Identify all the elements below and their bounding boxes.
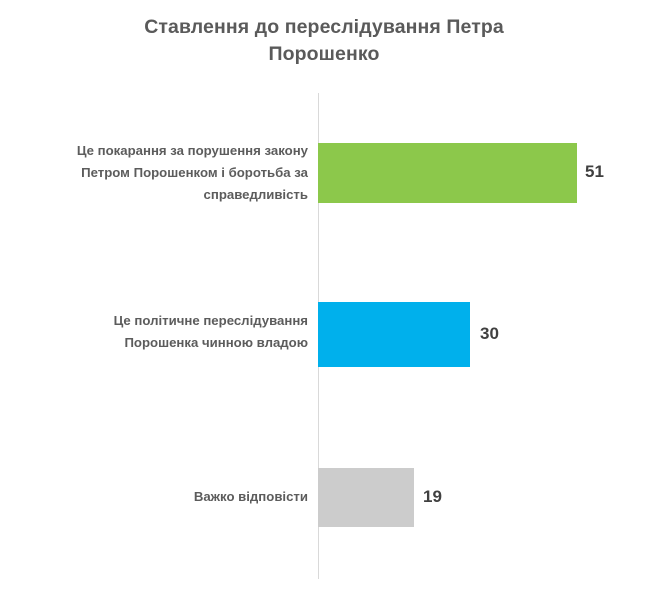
category-label-line: Петром Порошенком і боротьба за xyxy=(81,165,308,180)
bar-value-label: 19 xyxy=(423,487,442,507)
bar-row: Це політичне переслідування Порошенка чи… xyxy=(0,302,648,367)
plot-area: Це покарання за порушення закону Петром … xyxy=(0,0,648,602)
category-label: Важко відповісти xyxy=(8,486,308,508)
category-label-line: справедливість xyxy=(204,187,308,202)
bar-chart: Ставлення до переслідування Петра Пороше… xyxy=(0,0,648,602)
category-label-line: Порошенка чинною владою xyxy=(124,335,308,350)
bar-row: Це покарання за порушення закону Петром … xyxy=(0,143,648,203)
bar-row: Важко відповісти 19 xyxy=(0,468,648,527)
bar-grey xyxy=(318,468,414,527)
category-label-line: Це політичне переслідування xyxy=(114,313,308,328)
bar-value-label: 51 xyxy=(585,162,604,182)
bar-value-label: 30 xyxy=(480,324,499,344)
category-label: Це політичне переслідування Порошенка чи… xyxy=(8,310,308,354)
category-label-line: Це покарання за порушення закону xyxy=(77,143,308,158)
category-label-line: Важко відповісти xyxy=(194,489,308,504)
bar-blue xyxy=(318,302,470,367)
bar-green xyxy=(318,143,577,203)
category-label: Це покарання за порушення закону Петром … xyxy=(8,140,308,206)
